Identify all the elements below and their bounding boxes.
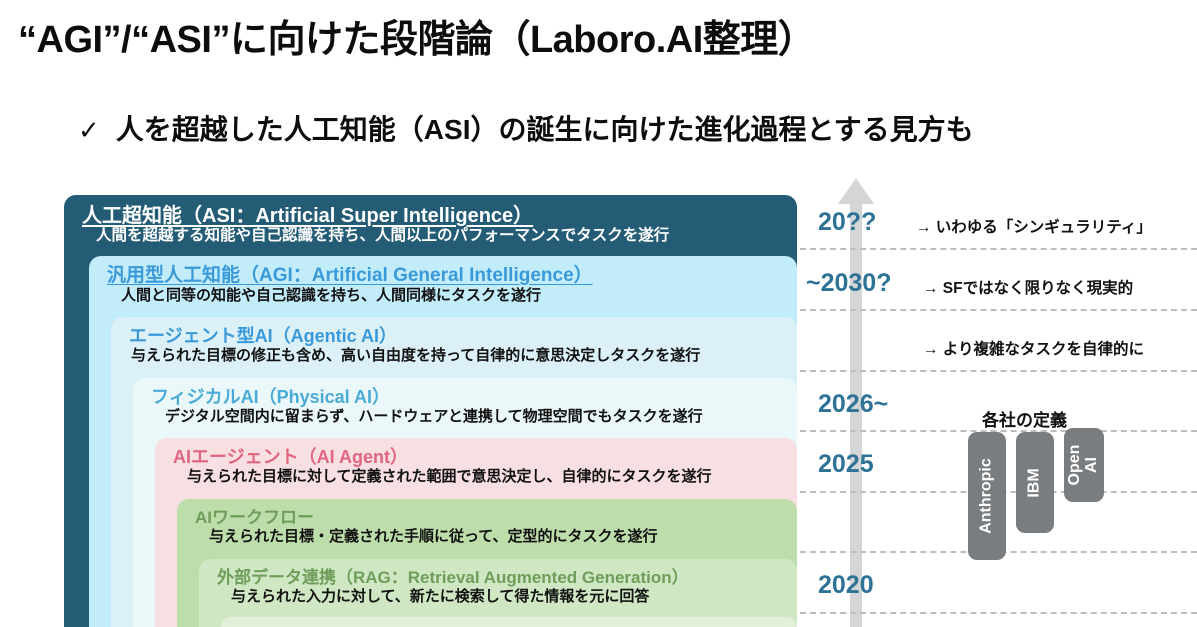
pyramid-layer-agi-text: 汎用型人工知能（AGI：Artificial General Intellige… (89, 256, 593, 304)
subtitle-line: ✓ 人を超越した人工知能（ASI）の誕生に向けた進化過程とする見方も (78, 108, 974, 148)
pyramid-layer-physical-ai-desc: デジタル空間内に留まらず、ハードウェアと連携して物理空間でもタスクを遂行 (151, 408, 703, 425)
timeline-year-2099: 20?? (818, 208, 876, 237)
vendor-label-ibm: IBM (1027, 468, 1044, 497)
timeline-divider (800, 370, 1197, 372)
vendors-title: 各社の定義 (982, 406, 1067, 431)
pyramid-layer-next-cutoff (221, 617, 797, 627)
vendor-box-openai[interactable]: Open AI (1064, 428, 1104, 502)
timeline-note-singularity: → いわゆる「シンギュラリティ」 (916, 215, 1152, 237)
pyramid-layer-ai-agent-text: AIエージェント（AI Agent） 与えられた目標に対して定義された範囲で意思… (155, 438, 712, 485)
pyramid-layer-asi-text: 人工超知能（ASI：Artificial Super Intelligence）… (64, 195, 669, 245)
pyramid-layer-rag-text: 外部データ連携（RAG：Retrieval Augmented Generati… (199, 559, 689, 605)
pyramid-layer-asi-title: 人工超知能（ASI：Artificial Super Intelligence） (82, 205, 669, 227)
timeline-year-2026: 2026~ (818, 390, 888, 419)
pyramid-layer-ai-workflow-text: AIワークフロー 与えられた目標・定義された手順に従って、定型的にタスクを遂行 (177, 499, 658, 545)
vendor-label-openai: Open AI (1067, 445, 1101, 486)
timeline-year-2025: 2025 (818, 450, 874, 479)
vendor-label-anthropic: Anthropic (979, 458, 996, 534)
timeline-divider (800, 309, 1197, 311)
subtitle-text: 人を超越した人工知能（ASI）の誕生に向けた進化過程とする見方も (116, 108, 974, 148)
pyramid-layer-ai-workflow-desc: 与えられた目標・定義された手順に従って、定型的にタスクを遂行 (195, 528, 658, 545)
timeline-note-realistic: → SFではなく限りなく現実的 (923, 276, 1133, 298)
pyramid-layer-agi-title: 汎用型人工知能（AGI：Artificial General Intellige… (107, 266, 593, 287)
pyramid-layer-rag-desc: 与えられた入力に対して、新たに検索して得た情報を元に回答 (217, 588, 689, 605)
ai-stage-pyramid: 人工超知能（ASI：Artificial Super Intelligence）… (64, 195, 797, 627)
pyramid-layer-rag-title: 外部データ連携（RAG：Retrieval Augmented Generati… (217, 569, 689, 588)
pyramid-layer-physical-ai-title: フィジカルAI（Physical AI） (151, 388, 703, 408)
pyramid-layer-agi-desc: 人間と同等の知能や自己認識を持ち、人間同様にタスクを遂行 (107, 287, 593, 304)
pyramid-layer-agentic-ai-desc: 与えられた目標の修正も含め、高い自由度を持って自律的に意思決定しタスクを遂行 (129, 347, 700, 364)
page-title: “AGI”/“ASI”に向けた段階論（Laboro.AI整理） (18, 8, 815, 63)
timeline-divider (800, 248, 1197, 250)
vendor-box-anthropic[interactable]: Anthropic (968, 432, 1006, 560)
pyramid-layer-ai-agent-title: AIエージェント（AI Agent） (173, 448, 712, 468)
pyramid-layer-ai-agent-desc: 与えられた目標に対して定義された範囲で意思決定し、自律的にタスクを遂行 (173, 468, 712, 485)
checkmark-icon: ✓ (78, 115, 100, 146)
timeline-note-autonomous: → より複雑なタスクを自律的に (923, 337, 1144, 359)
vendor-box-ibm[interactable]: IBM (1016, 432, 1054, 533)
pyramid-layer-physical-ai-text: フィジカルAI（Physical AI） デジタル空間内に留まらず、ハードウェア… (133, 378, 703, 425)
pyramid-layer-agentic-ai-text: エージェント型AI（Agentic AI） 与えられた目標の修正も含め、高い自由… (111, 317, 700, 364)
timeline-year-2020: 2020 (818, 571, 874, 600)
pyramid-layer-asi-desc: 人間を超越する知能や自己認識を持ち、人間以上のパフォーマンスでタスクを遂行 (82, 227, 669, 245)
up-arrow-icon (838, 178, 874, 204)
pyramid-layer-ai-workflow-title: AIワークフロー (195, 509, 658, 528)
timeline-divider (800, 612, 1197, 614)
pyramid-layer-agentic-ai-title: エージェント型AI（Agentic AI） (129, 327, 700, 347)
timeline-year-2030: ~2030? (806, 269, 892, 298)
